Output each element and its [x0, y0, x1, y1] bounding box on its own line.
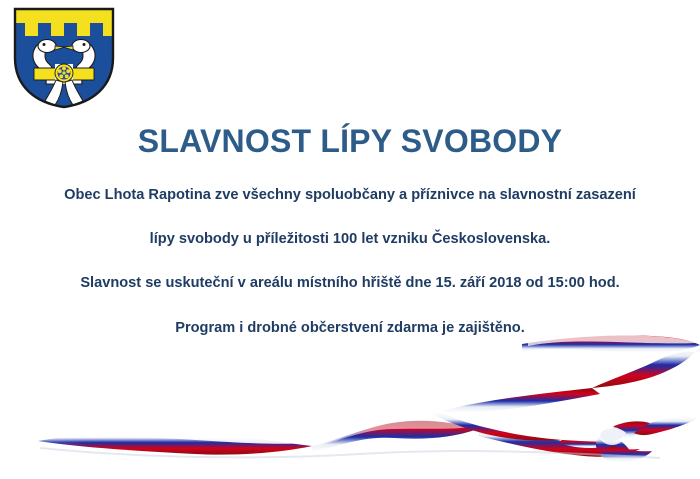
coat-of-arms-emblem	[11, 6, 117, 110]
goose-left-eye	[43, 43, 46, 46]
body-line-3: Slavnost se uskuteční v areálu místního …	[0, 274, 700, 292]
poster: SLAVNOST LÍPY SVOBODY Obec Lhota Rapotin…	[0, 0, 700, 479]
coat-of-arms-svg	[11, 6, 117, 110]
ribbon-zigzag-middle	[440, 388, 600, 413]
goose-right-eye	[83, 43, 86, 46]
page-title: SLAVNOST LÍPY SVOBODY	[0, 123, 700, 160]
body-line-2: lípy svobody u příležitosti 100 let vzni…	[0, 230, 700, 248]
body-text-block: Obec Lhota Rapotina zve všechny spoluobč…	[0, 186, 700, 337]
goose-left-head	[38, 40, 56, 53]
tricolour-ribbon-graphic	[0, 328, 700, 479]
body-line-1: Obec Lhota Rapotina zve všechny spoluobč…	[0, 186, 700, 204]
ribbon-svg	[0, 328, 700, 479]
goose-right-head	[72, 40, 90, 53]
